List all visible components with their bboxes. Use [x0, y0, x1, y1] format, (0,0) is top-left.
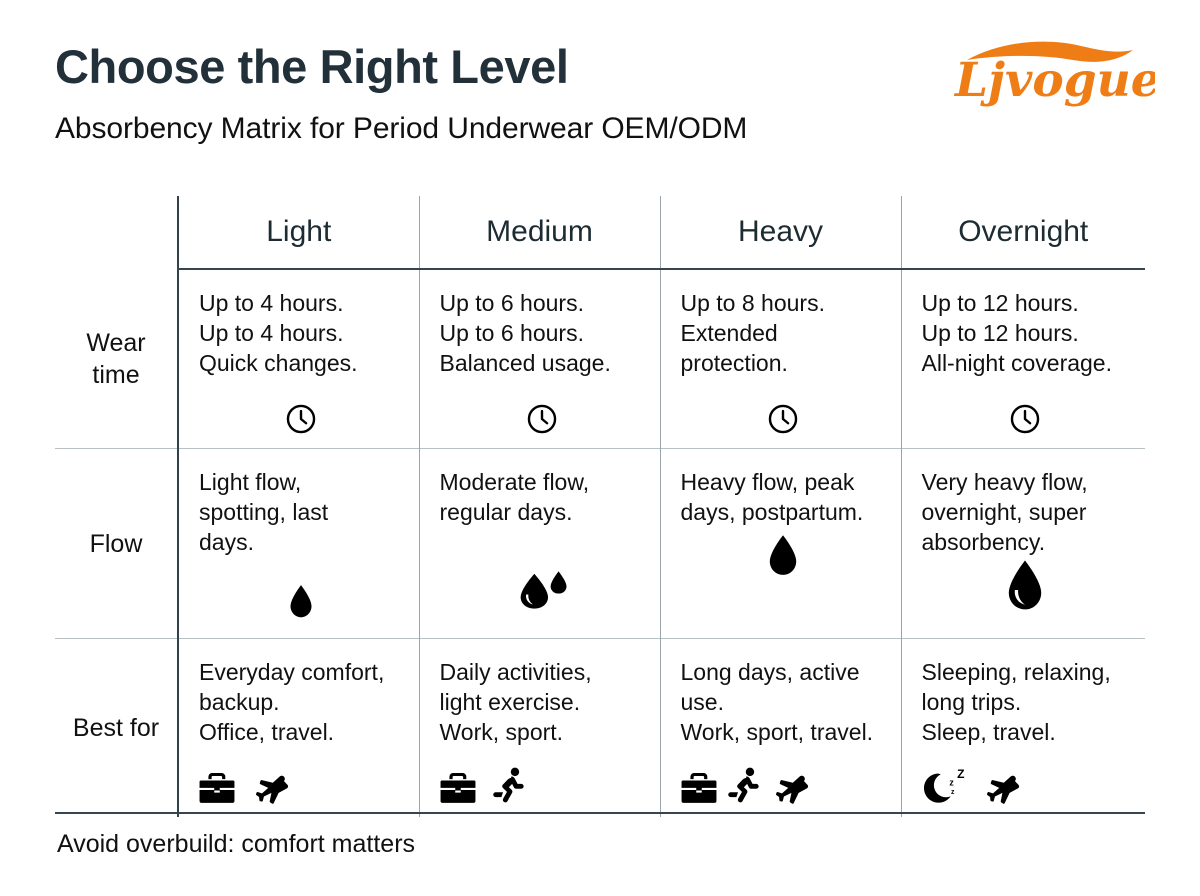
cell-wear-time-light: Up to 4 hours. Up to 4 hours. Quick chan…	[178, 269, 419, 449]
cell-line: Sleep, travel.	[922, 717, 1130, 747]
cell-text: Sleeping, relaxing, long trips. Sleep, t…	[922, 657, 1130, 747]
row-label-flow: Flow	[55, 449, 178, 639]
cell-line: Up to 4 hours.	[199, 288, 403, 318]
table-row: Wear time Up to 4 hours. Up to 4 hours. …	[55, 269, 1145, 449]
cell-line: Extended protection.	[681, 318, 831, 378]
cell-icons	[681, 759, 885, 805]
cell-icons	[199, 390, 403, 436]
airplane-icon	[251, 769, 291, 805]
cell-line: Long days, active use.	[681, 657, 871, 717]
cell-line: All-night coverage.	[922, 348, 1130, 378]
cell-text: Up to 8 hours. Extended protection.	[681, 288, 885, 378]
column-header-light: Light	[178, 196, 419, 269]
cell-icons: Z z z	[922, 759, 1130, 805]
column-header-medium: Medium	[419, 196, 660, 269]
cell-line: Heavy flow, peak days, postpartum.	[681, 467, 866, 527]
cell-line: Daily activities, light exercise.	[440, 657, 635, 717]
cell-text: Daily activities, light exercise. Work, …	[440, 657, 644, 747]
droplet-large-icon	[1003, 559, 1047, 613]
cell-wear-time-overnight: Up to 12 hours. Up to 12 hours. All-nigh…	[901, 269, 1145, 449]
cell-line: Moderate flow, regular days.	[440, 467, 635, 527]
cell-line: Light flow, spotting, last days.	[199, 467, 344, 557]
cell-text: Long days, active use. Work, sport, trav…	[681, 657, 885, 747]
cell-text: Very heavy flow, overnight, super absorb…	[922, 467, 1130, 557]
cell-icons	[922, 559, 1130, 613]
droplets-icon	[516, 569, 568, 611]
airplane-icon	[982, 769, 1022, 805]
cell-line: Quick changes.	[199, 348, 403, 378]
cell-text: Heavy flow, peak days, postpartum.	[681, 467, 885, 527]
cell-line: Up to 8 hours.	[681, 288, 885, 318]
droplet-small-icon	[286, 583, 316, 621]
cell-icons	[681, 390, 885, 436]
airplane-icon	[771, 769, 811, 805]
cell-flow-medium: Moderate flow, regular days.	[419, 449, 660, 639]
cell-text: Up to 6 hours. Up to 6 hours. Balanced u…	[440, 288, 644, 378]
svg-text:Z: Z	[957, 767, 965, 781]
briefcase-icon	[199, 771, 235, 805]
briefcase-icon	[681, 771, 717, 805]
cell-line: Office, travel.	[199, 717, 403, 747]
clock-icon	[766, 402, 800, 436]
column-header-heavy: Heavy	[660, 196, 901, 269]
infographic-page: Choose the Right Level Absorbency Matrix…	[0, 0, 1200, 896]
absorbency-matrix: Light Medium Heavy Overnight Wear time U…	[55, 196, 1145, 817]
brand-logo: Ljvogues	[945, 34, 1155, 112]
cell-line: Up to 6 hours.	[440, 318, 644, 348]
cell-icons	[199, 759, 403, 805]
cell-line: Everyday comfort, backup.	[199, 657, 403, 717]
cell-line: Up to 4 hours.	[199, 318, 403, 348]
cell-line: Work, sport, travel.	[681, 717, 885, 747]
cell-flow-overnight: Very heavy flow, overnight, super absorb…	[901, 449, 1145, 639]
cell-best-for-heavy: Long days, active use. Work, sport, trav…	[660, 639, 901, 818]
cell-flow-light: Light flow, spotting, last days.	[178, 449, 419, 639]
clock-icon	[525, 402, 559, 436]
footnote: Avoid overbuild: comfort matters	[57, 828, 415, 860]
cell-line: Very heavy flow, overnight, super absorb…	[922, 467, 1122, 557]
row-label-best-for: Best for	[55, 639, 178, 818]
table-row: Best for Everyday comfort, backup. Offic…	[55, 639, 1145, 818]
cell-text: Everyday comfort, backup. Office, travel…	[199, 657, 403, 747]
cell-best-for-light: Everyday comfort, backup. Office, travel…	[178, 639, 419, 818]
table-row: Flow Light flow, spotting, last days. Mo…	[55, 449, 1145, 639]
clock-icon	[1008, 402, 1042, 436]
cell-icons	[440, 759, 644, 805]
cell-icons	[922, 390, 1130, 436]
cell-line: Sleeping, relaxing, long trips.	[922, 657, 1127, 717]
cell-line: Up to 6 hours.	[440, 288, 644, 318]
briefcase-icon	[440, 771, 476, 805]
cell-wear-time-heavy: Up to 8 hours. Extended protection.	[660, 269, 901, 449]
svg-text:z: z	[951, 789, 955, 796]
cell-text: Light flow, spotting, last days.	[199, 467, 403, 557]
cell-line: Work, sport.	[440, 717, 644, 747]
header-corner	[55, 196, 178, 269]
header-row: Light Medium Heavy Overnight	[55, 196, 1145, 269]
cell-wear-time-medium: Up to 6 hours. Up to 6 hours. Balanced u…	[419, 269, 660, 449]
cell-icons	[681, 533, 885, 579]
clock-icon	[284, 402, 318, 436]
runner-icon	[492, 767, 526, 805]
cell-best-for-medium: Daily activities, light exercise. Work, …	[419, 639, 660, 818]
logo-wordmark: Ljvogues	[953, 53, 1155, 108]
moon-zzz-icon: Z z z	[922, 767, 968, 805]
cell-text: Up to 4 hours. Up to 4 hours. Quick chan…	[199, 288, 403, 378]
cell-line: Balanced usage.	[440, 348, 644, 378]
cell-flow-heavy: Heavy flow, peak days, postpartum.	[660, 449, 901, 639]
cell-icons	[440, 565, 644, 611]
cell-text: Moderate flow, regular days.	[440, 467, 644, 527]
matrix-header: Light Medium Heavy Overnight	[55, 196, 1145, 269]
column-header-overnight: Overnight	[901, 196, 1145, 269]
droplet-medium-icon	[765, 533, 801, 579]
matrix-table: Light Medium Heavy Overnight Wear time U…	[55, 196, 1145, 817]
cell-best-for-overnight: Sleeping, relaxing, long trips. Sleep, t…	[901, 639, 1145, 818]
cell-icons	[199, 575, 403, 621]
runner-icon	[727, 767, 761, 805]
cell-line: Up to 12 hours.	[922, 318, 1130, 348]
matrix-body: Wear time Up to 4 hours. Up to 4 hours. …	[55, 269, 1145, 817]
row-label-wear-time: Wear time	[55, 269, 178, 449]
cell-text: Up to 12 hours. Up to 12 hours. All-nigh…	[922, 288, 1130, 378]
cell-line: Up to 12 hours.	[922, 288, 1130, 318]
table-bottom-rule	[55, 812, 1145, 814]
svg-text:z: z	[949, 777, 954, 787]
cell-icons	[440, 390, 644, 436]
